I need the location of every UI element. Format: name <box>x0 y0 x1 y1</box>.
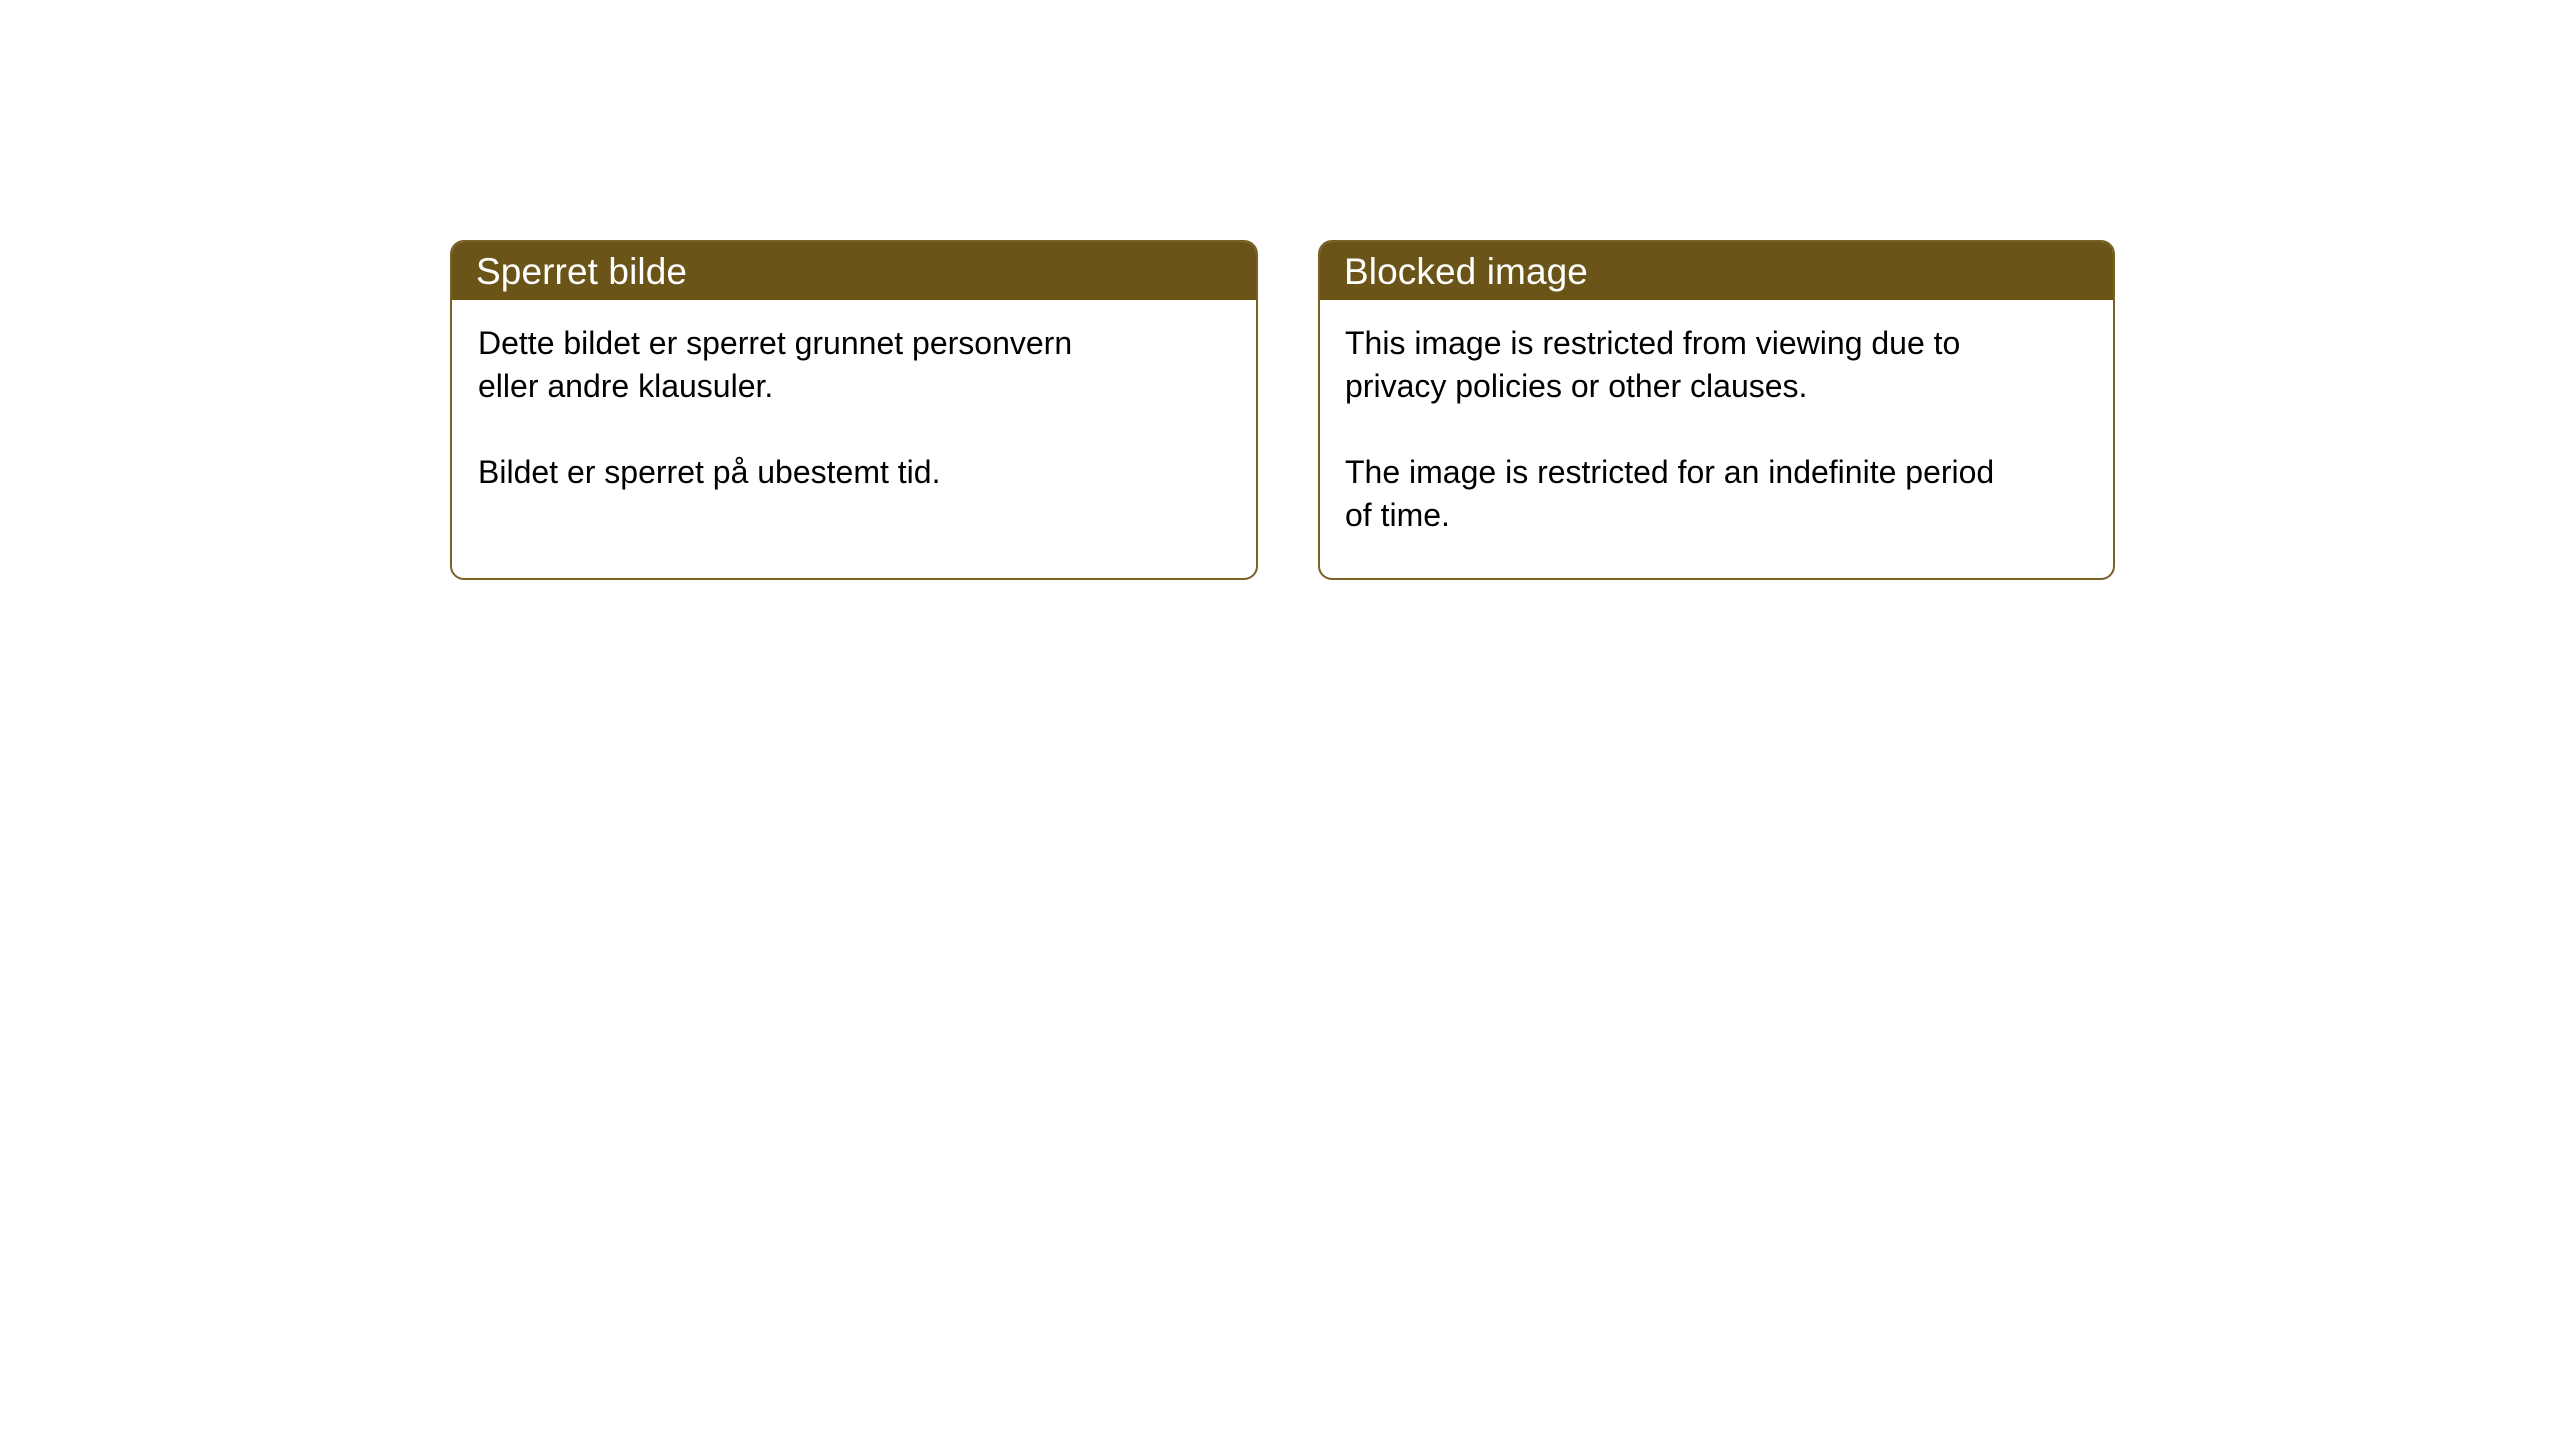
card-title-norwegian: Sperret bilde <box>476 253 687 290</box>
blocked-image-card-norwegian: Sperret bilde Dette bildet er sperret gr… <box>450 240 1258 580</box>
card-header-english: Blocked image <box>1320 242 2113 300</box>
card-paragraph-duration-english: The image is restricted for an indefinit… <box>1345 451 2099 537</box>
card-title-english: Blocked image <box>1344 253 1588 290</box>
page-canvas: Sperret bilde Dette bildet er sperret gr… <box>0 0 2560 1440</box>
card-paragraph-reason-norwegian: Dette bildet er sperret grunnet personve… <box>478 322 1236 408</box>
card-header-norwegian: Sperret bilde <box>452 242 1256 300</box>
blocked-image-card-english: Blocked image This image is restricted f… <box>1318 240 2115 580</box>
card-body-english: This image is restricted from viewing du… <box>1320 300 2113 537</box>
card-body-norwegian: Dette bildet er sperret grunnet personve… <box>452 300 1256 494</box>
card-paragraph-reason-english: This image is restricted from viewing du… <box>1345 322 2099 408</box>
card-paragraph-duration-norwegian: Bildet er sperret på ubestemt tid. <box>478 451 1236 494</box>
